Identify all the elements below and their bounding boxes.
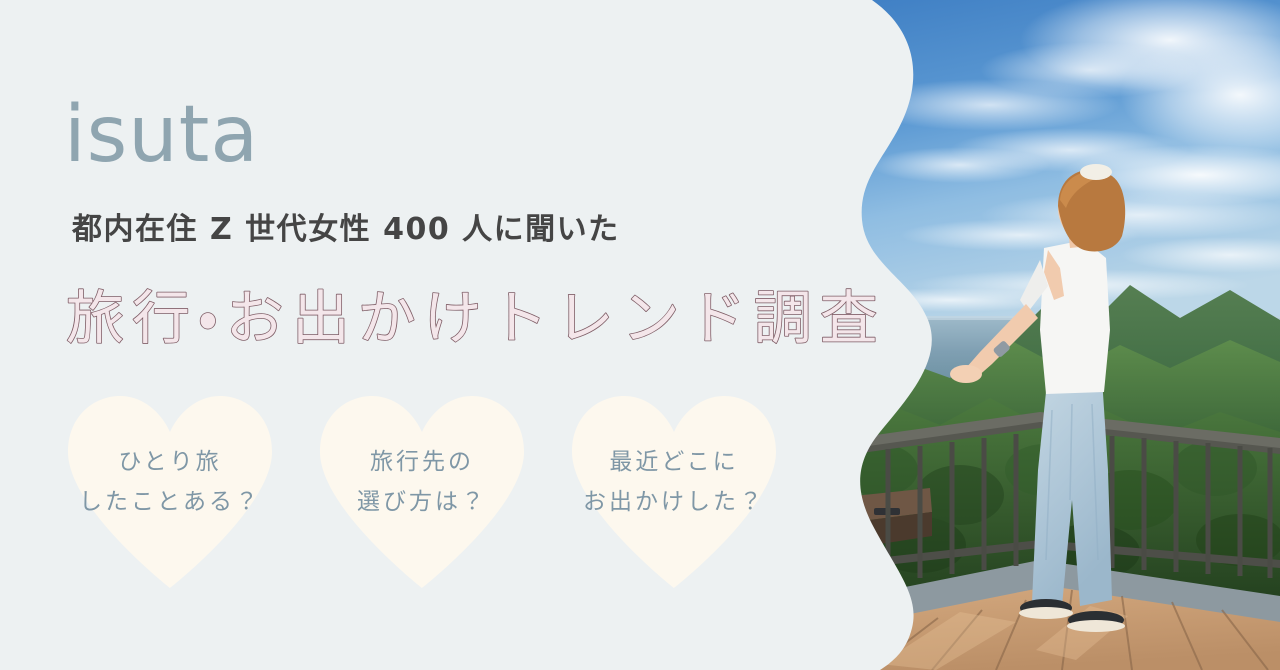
hand-left [950, 365, 982, 383]
isuta-logo[interactable]: isuta [64, 96, 259, 174]
survey-subtitle: 都内在住 Z 世代女性 400 人に聞いた [72, 212, 620, 248]
banner-content: isuta 都内在住 Z 世代女性 400 人に聞いた 旅行・お出かけトレンド調… [0, 0, 880, 670]
heart-label-3: 最近どこに お出かけした？ [566, 442, 782, 523]
isuta-survey-banner: isuta 都内在住 Z 世代女性 400 人に聞いた 旅行・お出かけトレンド調… [0, 0, 1280, 670]
main-title: 旅行・お出かけトレンド調査 [62, 278, 882, 358]
heart-label-1: ひとり旅 したことある？ [62, 442, 278, 523]
hair-clip [1080, 164, 1112, 180]
heart-card-2[interactable]: 旅行先の 選び方は？ [314, 390, 530, 588]
question-hearts: ひとり旅 したことある？ 旅行先の 選び方は？ 最近どこに お出かけした？ [58, 390, 848, 590]
hero-photo-illustration [840, 0, 1280, 670]
heart-card-3[interactable]: 最近どこに お出かけした？ [566, 390, 782, 588]
main-title-text: 旅行・お出かけトレンド調査 [66, 284, 886, 352]
hero-photo [840, 0, 1280, 670]
main-title-outlined-svg: 旅行・お出かけトレンド調査 [62, 278, 882, 358]
heart-card-1[interactable]: ひとり旅 したことある？ [62, 390, 278, 588]
heart-label-2: 旅行先の 選び方は？ [314, 442, 530, 523]
